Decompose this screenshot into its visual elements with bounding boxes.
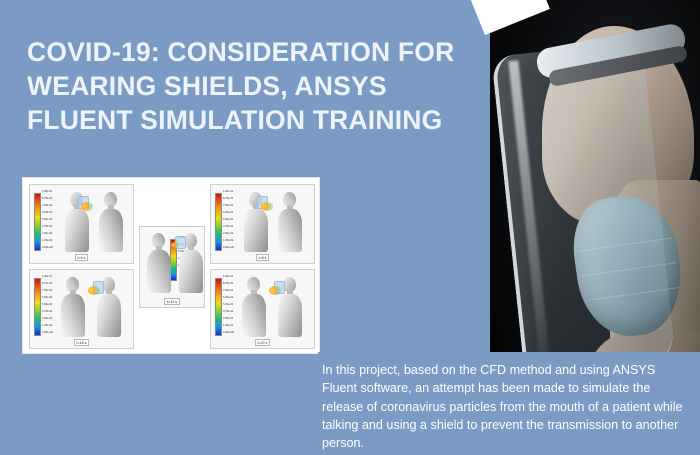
- legend-tick: 1.00e-01: [42, 191, 60, 194]
- legend-tick: 5.00e-02: [223, 219, 241, 222]
- figure-torso: [97, 294, 121, 337]
- legend-tick: 2.50e-02: [223, 233, 241, 236]
- mannequin-figure-front: [277, 277, 303, 337]
- contour-panel-top-left: 1.00e-01 8.75e-02 7.50e-02 6.25e-02 5.00…: [29, 184, 134, 264]
- legend-tick: 3.75e-02: [223, 226, 241, 229]
- legend-tick: 2.50e-02: [223, 318, 241, 321]
- particle-plume: [171, 242, 179, 248]
- contour-panel-top-right: 1.00e-01 8.75e-02 7.50e-02 6.25e-02 5.00…: [210, 184, 315, 264]
- page-title: COVID-19: CONSIDERATION FOR WEARING SHIE…: [27, 36, 497, 138]
- particle-plume: [261, 202, 273, 211]
- legend-tick: 3.75e-02: [42, 226, 60, 229]
- legend-tick: 1.25e-02: [42, 325, 60, 328]
- contour-panel-center: 1.00e-01 7.50e-02 5.00e-02 2.50e-02 0.00…: [139, 226, 205, 308]
- legend-tick: 6.25e-02: [42, 212, 60, 215]
- figure-torso: [61, 294, 85, 337]
- mannequin-figure-front: [178, 233, 204, 293]
- color-legend-bar: [215, 193, 222, 251]
- mannequin-figure-front: [96, 277, 122, 337]
- mannequin-figure-back: [146, 233, 172, 293]
- title-line-3: FLUENT SIMULATION TRAINING: [27, 104, 497, 138]
- color-legend-bar: [34, 278, 41, 336]
- legend-tick: 7.50e-02: [223, 205, 241, 208]
- contour-panel-bottom-left: 1.00e-01 8.75e-02 7.50e-02 6.25e-02 5.00…: [29, 269, 134, 349]
- legend-tick: 6.25e-02: [223, 212, 241, 215]
- legend-tick: 3.75e-02: [223, 311, 241, 314]
- legend-tick: 0.00e+00: [42, 332, 60, 335]
- caption-text: In this project, based on the CFD method…: [322, 361, 690, 452]
- mannequin-figure-back: [60, 277, 86, 337]
- simulation-figure-board: 1.00e-01 8.75e-02 7.50e-02 6.25e-02 5.00…: [22, 177, 320, 354]
- time-step-label: t=20 s: [255, 339, 271, 346]
- legend-tick: 5.00e-02: [42, 219, 60, 222]
- color-legend-ticks: 1.00e-01 8.75e-02 7.50e-02 6.25e-02 5.00…: [223, 191, 241, 253]
- figure-torso: [278, 209, 302, 252]
- legend-tick: 8.75e-02: [223, 283, 241, 286]
- color-legend-ticks: 1.00e-01 8.75e-02 7.50e-02 6.25e-02 5.00…: [42, 191, 60, 253]
- time-step-label: t=8 s: [256, 254, 270, 261]
- mannequin-figure-front: [64, 192, 90, 252]
- legend-tick: 8.75e-02: [42, 198, 60, 201]
- legend-tick: 1.00e-01: [42, 276, 60, 279]
- legend-tick: 1.25e-02: [223, 325, 241, 328]
- legend-tick: 1.25e-02: [223, 240, 241, 243]
- legend-tick: 7.50e-02: [223, 290, 241, 293]
- color-legend-ticks: 1.00e-01 8.75e-02 7.50e-02 6.25e-02 5.00…: [223, 276, 241, 338]
- color-legend-bar: [215, 278, 222, 336]
- title-line-2: WEARING SHIELDS, ANSYS: [27, 70, 497, 104]
- figure-torso: [179, 250, 203, 293]
- figure-torso: [65, 209, 89, 252]
- slide-canvas: COVID-19: CONSIDERATION FOR WEARING SHIE…: [0, 0, 700, 455]
- particle-plume: [81, 202, 93, 211]
- legend-tick: 2.50e-02: [42, 233, 60, 236]
- title-line-1: COVID-19: CONSIDERATION FOR: [27, 36, 497, 70]
- color-legend-bar: [34, 193, 41, 251]
- legend-tick: 8.75e-02: [223, 198, 241, 201]
- mannequin-figure-back: [98, 192, 124, 252]
- figure-torso: [242, 294, 266, 337]
- color-legend-ticks: 1.00e-01 8.75e-02 7.50e-02 6.25e-02 5.00…: [42, 276, 60, 338]
- time-step-label: t=4 s: [75, 254, 89, 261]
- legend-tick: 5.00e-02: [223, 304, 241, 307]
- mannequin-figure-front: [243, 192, 269, 252]
- figure-torso: [244, 209, 268, 252]
- legend-tick: 1.00e-01: [223, 276, 241, 279]
- legend-tick: 0.00e+00: [223, 247, 241, 250]
- mannequin-figure-back: [277, 192, 303, 252]
- legend-tick: 8.75e-02: [42, 283, 60, 286]
- legend-tick: 2.50e-02: [42, 318, 60, 321]
- particle-plume: [88, 286, 100, 295]
- legend-tick: 5.00e-02: [42, 304, 60, 307]
- legend-tick: 1.25e-02: [42, 240, 60, 243]
- legend-tick: 0.00e+00: [223, 332, 241, 335]
- legend-tick: 0.00e+00: [42, 247, 60, 250]
- time-step-label: t=16 s: [74, 339, 90, 346]
- particle-plume: [269, 286, 281, 295]
- legend-tick: 6.25e-02: [42, 297, 60, 300]
- figure-torso: [278, 294, 302, 337]
- time-step-label: t=12 s: [164, 298, 180, 305]
- contour-panel-bottom-right: 1.00e-01 8.75e-02 7.50e-02 6.25e-02 5.00…: [210, 269, 315, 349]
- legend-tick: 7.50e-02: [42, 205, 60, 208]
- mannequin-figure-back: [241, 277, 267, 337]
- legend-tick: 6.25e-02: [223, 297, 241, 300]
- figure-torso: [147, 250, 171, 293]
- legend-tick: 7.50e-02: [42, 290, 60, 293]
- legend-tick: 1.00e-01: [223, 191, 241, 194]
- legend-tick: 3.75e-02: [42, 311, 60, 314]
- figure-torso: [99, 209, 123, 252]
